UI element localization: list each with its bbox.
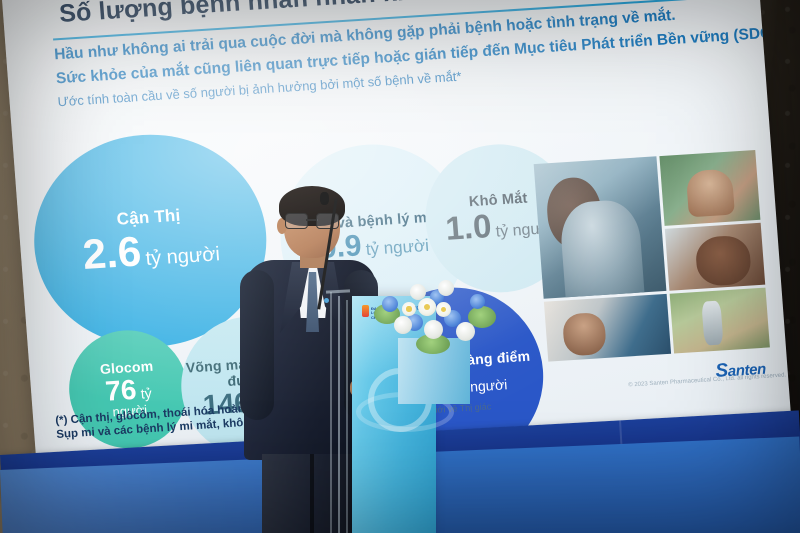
- bubble-number: 1.0: [444, 207, 493, 247]
- bubble-label: Cận Thị: [116, 207, 181, 229]
- bubble-number: 2.6: [81, 227, 143, 278]
- podium-rail: [346, 300, 348, 533]
- bubble-value: 76tỷ: [104, 374, 152, 406]
- podium-rail: [338, 296, 340, 533]
- white-rose: [394, 316, 412, 334]
- white-rose: [424, 320, 443, 339]
- microphone-icon: [320, 192, 329, 205]
- photo-woman-applying-eye-drops: [665, 222, 766, 291]
- daisy: [436, 302, 451, 317]
- flower-arrangement: [372, 276, 496, 356]
- photo-elderly-man-with-caregiver: [534, 156, 667, 299]
- photo-collage: [534, 150, 770, 362]
- bubble-number: 76: [104, 374, 137, 407]
- daisy: [402, 302, 416, 316]
- santen-logo-rest: anten: [727, 361, 766, 380]
- white-rose: [456, 322, 475, 341]
- photo-family-group-indoors: [544, 294, 671, 361]
- screenshot-root: Số lượng bệnh nhân nhãn khoa trên toàn t…: [0, 0, 800, 533]
- bubble-unit: tỷ người: [145, 243, 221, 270]
- podium-rail: [330, 292, 332, 533]
- logo-mark: [362, 305, 369, 317]
- daisy: [418, 298, 436, 316]
- bubble-unit: tỷ: [140, 385, 152, 402]
- bubble-value: 2.6tỷ người: [81, 224, 221, 277]
- blue-rose: [382, 296, 398, 312]
- speaker-leg-split: [310, 454, 314, 533]
- blue-rose: [470, 294, 485, 309]
- santen-logo: Santen: [715, 358, 767, 383]
- speaker-lapel-pin: [324, 298, 329, 303]
- speaker-arm-left: [240, 270, 274, 420]
- white-rose: [438, 280, 454, 296]
- photo-woman-rubbing-eye-outdoors: [659, 150, 760, 225]
- photo-couple-walking-in-park: [670, 288, 770, 354]
